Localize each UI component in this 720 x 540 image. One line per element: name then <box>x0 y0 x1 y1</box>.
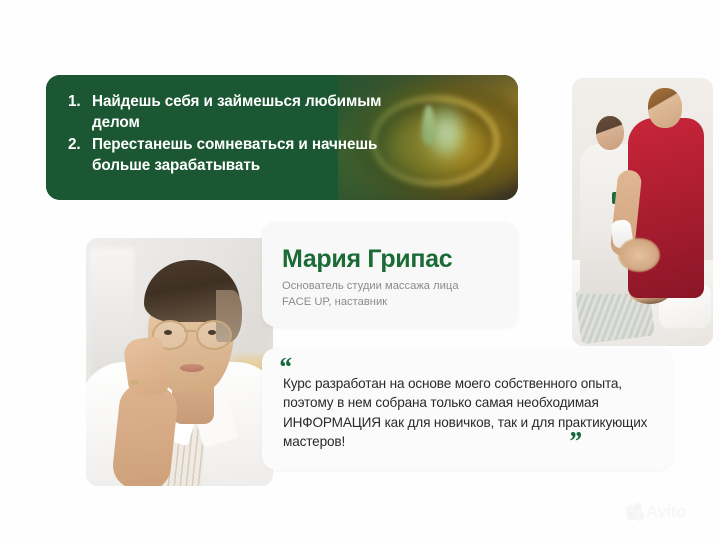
lips <box>180 364 204 372</box>
glasses-bridge <box>184 330 196 332</box>
forearm <box>111 381 180 486</box>
benefit-item-2: Перестанешь сомневаться и начнешь больше… <box>68 135 398 176</box>
glasses-lens-right <box>196 320 232 350</box>
quote-text: Курс разработан на основе моего собствен… <box>283 374 665 451</box>
benefit-item-1: Найдешь себя и займешься любимым делом <box>68 92 398 133</box>
eye-left <box>164 330 172 335</box>
testimonial-quote-card: “ Курс разработан на основе моего собств… <box>262 348 672 470</box>
finger-ring <box>130 380 139 385</box>
avito-watermark: Avito <box>626 503 686 520</box>
benefits-list: Найдешь себя и займешься любимым делом П… <box>68 92 398 179</box>
instructor-role: Основатель студии массажа лица FACE UP, … <box>282 278 459 310</box>
avito-dot-2 <box>634 503 642 511</box>
eye-right <box>208 330 216 335</box>
instructor-name: Мария Грипас <box>282 245 452 274</box>
instructor-name-card: Мария Грипас Основатель студии массажа л… <box>262 222 518 327</box>
avito-dot-4 <box>634 511 644 521</box>
hands-on-face <box>618 238 660 272</box>
massage-training-photo <box>572 78 713 346</box>
close-quote-icon: ” <box>568 428 582 455</box>
instructor-portrait-photo <box>86 238 273 486</box>
benefits-panel: Найдешь себя и займешься любимым делом П… <box>46 75 518 200</box>
hand-on-cheek <box>122 335 170 398</box>
instructor-head <box>648 88 682 128</box>
page-canvas: Найдешь себя и займешься любимым делом П… <box>0 0 720 540</box>
avito-wordmark: Avito <box>646 503 686 520</box>
avito-logo-icon <box>626 503 643 520</box>
therapist-head <box>596 116 624 150</box>
